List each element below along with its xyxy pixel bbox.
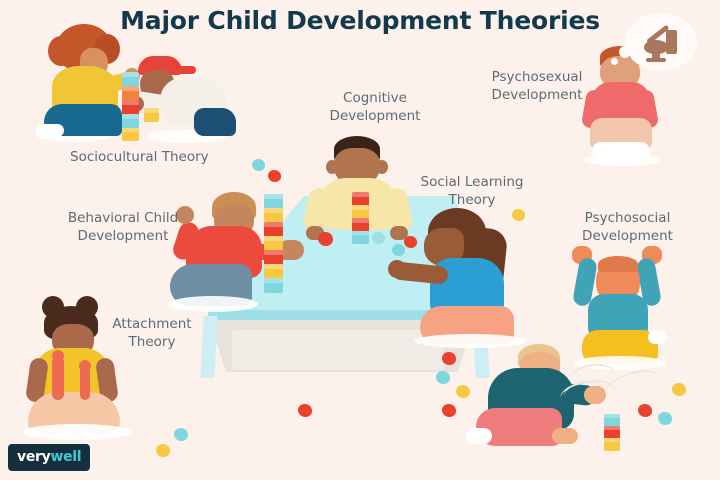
block-cube — [122, 128, 139, 141]
verywell-logo: verywell — [8, 444, 90, 471]
toy-ball — [512, 209, 525, 221]
scene-crawling-child — [466, 344, 626, 470]
child-hand — [552, 428, 578, 444]
scene-social-learning — [398, 206, 543, 346]
block-cube — [122, 114, 139, 129]
scene-shadow — [168, 296, 258, 312]
child-ear — [326, 160, 338, 174]
toy-ball — [456, 385, 470, 398]
label-cognitive-development: Cognitive Development — [325, 89, 425, 125]
toy-ball — [436, 371, 450, 384]
toy-ball — [658, 412, 672, 425]
boy-legs — [194, 108, 236, 136]
child-foot — [466, 428, 492, 444]
boy-cap-brim — [170, 66, 196, 74]
block-ball — [318, 232, 333, 246]
block-cube — [144, 108, 159, 122]
child-hair — [598, 256, 638, 272]
woman-foot — [36, 124, 64, 137]
label-psychosocial-development: Psychosocial Development — [575, 209, 680, 245]
block-cube — [122, 72, 139, 87]
logo-text-well: well — [50, 449, 81, 465]
block-cube — [352, 231, 369, 244]
block-cube — [604, 438, 620, 451]
woman-hair — [48, 36, 74, 66]
label-psychosexual-development: Psychosexual Development — [482, 68, 592, 104]
scene-shadow — [584, 154, 660, 166]
thought-bubble — [628, 16, 694, 68]
block-cube — [352, 192, 369, 206]
child-foot — [648, 330, 666, 344]
label-social-learning-theory: Social Learning Theory — [416, 173, 528, 209]
toy-ball — [372, 232, 385, 244]
toy-ball — [174, 428, 188, 441]
label-attachment-theory: Attachment Theory — [104, 315, 200, 351]
block-cube — [264, 208, 283, 223]
toy-ball — [156, 444, 170, 457]
toilet-icon — [646, 58, 666, 62]
block-cube — [352, 205, 369, 219]
block-cube — [264, 264, 283, 279]
toy-ball — [442, 404, 456, 417]
label-sociocultural-theory: Sociocultural Theory — [70, 148, 209, 166]
toy-ball — [298, 404, 312, 417]
scene-sociocultural — [30, 20, 230, 145]
block-cube — [122, 86, 139, 101]
doll-head — [52, 350, 64, 362]
toilet-icon — [666, 30, 677, 54]
block-cube — [264, 222, 283, 237]
toy-ball — [252, 159, 265, 171]
table-leg-left — [200, 316, 217, 378]
toy-ball — [392, 244, 405, 256]
scene-shadow — [22, 424, 132, 440]
logo-text-very: very — [17, 449, 50, 465]
toy-ball — [442, 352, 456, 365]
block-cube — [264, 278, 283, 293]
block-cube — [264, 250, 283, 265]
label-behavioral-child-development: Behavioral Child Development — [58, 209, 188, 245]
toy-ball — [268, 170, 281, 182]
toy-ball — [672, 383, 686, 396]
block-cube — [264, 236, 283, 251]
doll-head — [79, 360, 91, 372]
doll — [52, 356, 64, 400]
toy-ball — [404, 236, 417, 248]
scene-attachment — [22, 292, 152, 437]
block-cube — [352, 218, 369, 232]
block-cube — [264, 194, 283, 209]
child-ear — [376, 160, 388, 174]
toy-ball — [638, 404, 652, 417]
block-cube — [122, 100, 139, 115]
girl-hand — [388, 260, 406, 278]
infographic-canvas: Major Child Development Theories — [0, 0, 720, 480]
